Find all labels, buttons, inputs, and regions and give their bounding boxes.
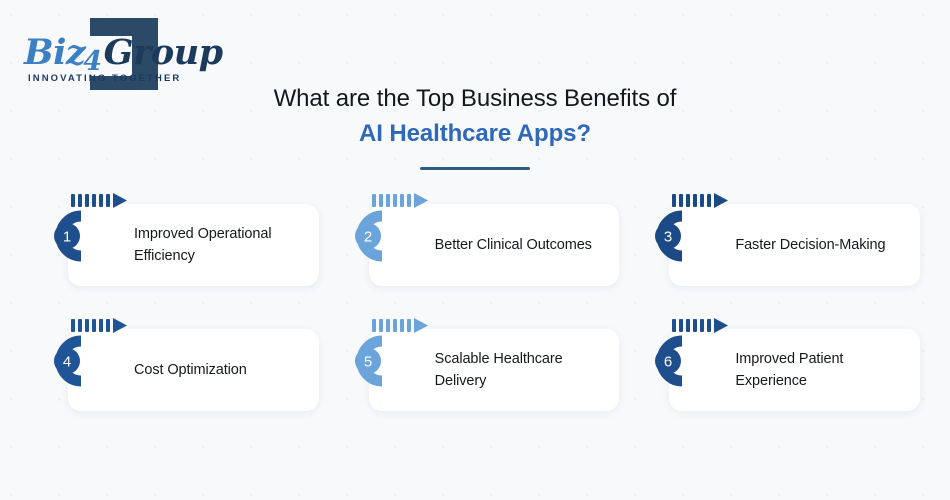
title-underline <box>420 167 530 170</box>
logo-word-group: Group <box>104 32 223 73</box>
badge-number: 6 <box>664 354 672 371</box>
benefit-item-2: Better Clinical Outcomes 2 <box>341 190 620 315</box>
badge-number: 3 <box>664 229 672 246</box>
benefits-grid: Improved Operational Efficiency <box>40 190 920 440</box>
badge-number: 4 <box>63 354 71 371</box>
badge-number: 5 <box>363 354 371 371</box>
badge-number: 2 <box>363 229 371 246</box>
benefit-number-badge: 5 <box>341 315 437 387</box>
title-line-1: What are the Top Business Benefits of <box>0 84 950 114</box>
benefit-item-3: Faster Decision-Making 3 <box>641 190 920 315</box>
badge-arrow-icon <box>672 318 728 333</box>
benefit-item-4: Cost Optimization 4 <box>40 315 319 440</box>
benefit-number-badge: 4 <box>40 315 136 387</box>
logo-wordmark: Biz4Group <box>24 32 223 73</box>
infographic-canvas: Biz4Group INNOVATING TOGETHER What are t… <box>0 0 950 500</box>
benefit-number-badge: 2 <box>341 190 437 262</box>
badge-arrow-icon <box>372 318 428 333</box>
badge-arrow-icon <box>672 193 728 208</box>
page-title: What are the Top Business Benefits of AI… <box>0 84 950 170</box>
logo-tagline: INNOVATING TOGETHER <box>28 73 181 84</box>
benefit-number-badge: 1 <box>40 190 136 262</box>
brand-logo: Biz4Group INNOVATING TOGETHER <box>18 16 238 94</box>
benefit-item-1: Improved Operational Efficiency <box>40 190 319 315</box>
badge-arrow-icon <box>372 193 428 208</box>
benefit-number-badge: 3 <box>641 190 737 262</box>
title-line-2: AI Healthcare Apps? <box>0 119 950 149</box>
logo-word-biz: Biz <box>24 32 85 73</box>
badge-arrow-icon <box>71 193 127 208</box>
benefit-item-6: Improved Patient Experience 6 <box>641 315 920 440</box>
benefit-item-5: Scalable Healthcare Delivery 5 <box>341 315 620 440</box>
badge-number: 1 <box>63 229 71 246</box>
badge-arrow-icon <box>71 318 127 333</box>
benefit-number-badge: 6 <box>641 315 737 387</box>
